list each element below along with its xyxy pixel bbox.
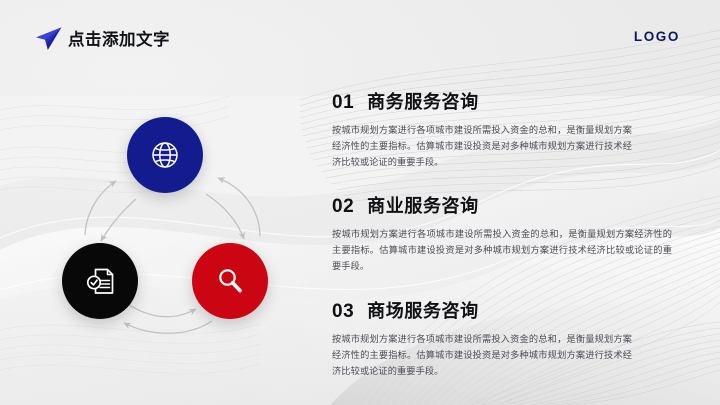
section-02-number: 02: [332, 196, 354, 218]
section-03-heading: 03 商场服务咨询: [332, 297, 688, 323]
section-01-body: 按城市规划方案进行各项城市建设所需投入资金的总和，是衡量规划方案经济性的主要指标…: [332, 123, 632, 170]
section-03-body: 按城市规划方案进行各项城市建设所需投入资金的总和，是衡量规划方案经济性的主要指标…: [332, 332, 632, 379]
diagram-node-document[interactable]: [62, 243, 138, 319]
section-01: 01 商务服务咨询 按城市规划方案进行各项城市建设所需投入资金的总和，是衡量规划…: [332, 88, 688, 170]
section-03: 03 商场服务咨询 按城市规划方案进行各项城市建设所需投入资金的总和，是衡量规划…: [332, 297, 688, 379]
document-check-icon: [83, 264, 117, 298]
section-02-title: 商业服务咨询: [367, 192, 479, 218]
content-sections: 01 商务服务咨询 按城市规划方案进行各项城市建设所需投入资金的总和，是衡量规划…: [332, 88, 688, 379]
diagram-node-globe[interactable]: [127, 117, 203, 193]
section-03-number: 03: [332, 301, 354, 323]
slide-header: 点击添加文字 LOGO: [0, 0, 720, 62]
slide-canvas: 点击添加文字 LOGO: [0, 0, 720, 405]
diagram-node-search[interactable]: [192, 243, 268, 319]
section-02: 02 商业服务咨询 按城市规划方案进行各项城市建设所需投入资金的总和，是衡量规划…: [332, 192, 688, 274]
section-03-title: 商场服务咨询: [367, 297, 479, 323]
section-01-number: 01: [332, 92, 354, 114]
magnifier-icon: [213, 264, 247, 298]
globe-icon: [148, 138, 182, 172]
paper-plane-icon: [33, 26, 63, 52]
process-diagram: [40, 95, 302, 347]
section-01-heading: 01 商务服务咨询: [332, 88, 688, 114]
logo-text: LOGO: [634, 29, 680, 44]
header-title: 点击添加文字: [68, 26, 170, 50]
section-01-title: 商务服务咨询: [367, 88, 479, 114]
section-02-heading: 02 商业服务咨询: [332, 192, 688, 218]
section-02-body: 按城市规划方案进行各项城市建设所需投入资金的总和，是衡量规划方案经济性的主要指标…: [332, 227, 672, 274]
